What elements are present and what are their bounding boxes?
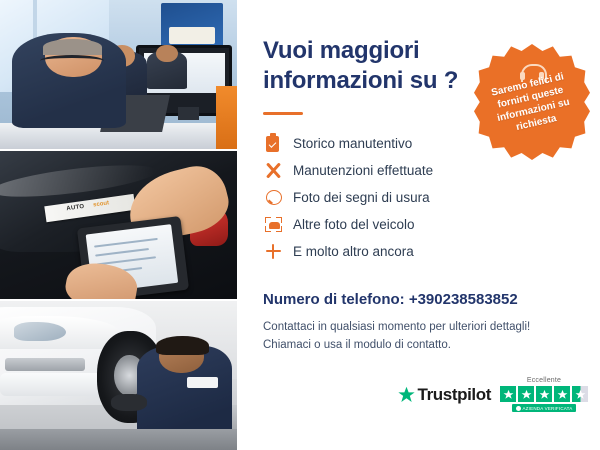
agent-hair — [43, 39, 102, 55]
front-grille — [5, 358, 86, 371]
tablet-text-line — [94, 248, 148, 257]
orange-equipment — [216, 86, 237, 148]
list-item: Storico manutentivo — [263, 130, 503, 157]
trustpilot-star-icon — [398, 386, 415, 403]
mechanic-glove — [111, 394, 147, 412]
star-filled — [536, 386, 552, 402]
list-item: E molto altro ancora — [263, 238, 503, 265]
photo-call-centre — [0, 0, 237, 149]
wall-poster — [161, 3, 223, 48]
trustpilot-logo: Trustpilot — [398, 385, 491, 405]
list-item-label: Foto dei segni di usura — [293, 190, 430, 205]
monitor-stand — [178, 107, 199, 120]
verified-check-icon — [516, 406, 521, 411]
rating-label: Eccellente — [527, 377, 561, 384]
list-item-label: E molto altro ancora — [293, 244, 414, 259]
photo-column: AUTO scout — [0, 0, 237, 450]
mechanic-hair — [156, 336, 208, 355]
contact-note-line-2: Chiamaci o usa il modulo di contatto. — [263, 336, 563, 354]
colleague-far-head — [156, 45, 177, 63]
trustpilot-rating: Eccellente — [500, 377, 588, 412]
feature-list: Storico manutentivo Manutenzioni effettu… — [263, 130, 503, 265]
star-filled — [518, 386, 534, 402]
trustpilot-wordmark: Trustpilot — [418, 385, 491, 405]
headlight — [14, 322, 66, 341]
magnifier-icon — [263, 188, 287, 208]
star-rating — [500, 386, 588, 402]
phone-number-line: Numero di telefono: +390238583852 — [263, 291, 518, 308]
star-filled — [500, 386, 516, 402]
list-item-label: Altre foto del veicolo — [293, 217, 415, 232]
star-half — [572, 386, 588, 402]
uniform-logo-patch — [187, 377, 218, 387]
contact-note-line-1: Contattaci in qualsiasi momento per ulte… — [263, 318, 563, 336]
photo-mechanic — [0, 301, 237, 450]
sticker-brand-accent: scout — [93, 200, 110, 208]
advertisement-card: AUTO scout — [0, 0, 600, 450]
trustpilot-widget[interactable]: Trustpilot Eccellente — [398, 377, 588, 412]
photo-inspection: AUTO scout — [0, 151, 237, 300]
car-frame-icon — [263, 215, 287, 235]
page-title: Vuoi maggiori informazioni su ? — [263, 36, 473, 96]
verified-badge-label: AZIENDA VERIFICATA — [523, 406, 573, 411]
sticker-brand: AUTO — [66, 203, 85, 211]
list-item: Altre foto del veicolo — [263, 211, 503, 238]
list-item-label: Manutenzioni effettuate — [293, 163, 433, 178]
content-panel: Vuoi maggiori informazioni su ? Saremo f… — [237, 0, 600, 450]
list-item: Manutenzioni effettuate — [263, 157, 503, 184]
list-item-label: Storico manutentivo — [293, 136, 412, 151]
clipboard-check-icon — [263, 134, 287, 154]
star-filled — [554, 386, 570, 402]
tablet-text-line — [93, 238, 157, 248]
vehicle-lift — [0, 429, 237, 450]
verified-business-badge: AZIENDA VERIFICATA — [512, 404, 577, 412]
list-item: Foto dei segni di usura — [263, 184, 503, 211]
agent-headset — [40, 55, 104, 67]
contact-note: Contattaci in qualsiasi momento per ulte… — [263, 318, 563, 354]
title-underline-divider — [263, 112, 303, 115]
tools-icon — [263, 161, 287, 181]
plus-icon — [263, 242, 287, 262]
